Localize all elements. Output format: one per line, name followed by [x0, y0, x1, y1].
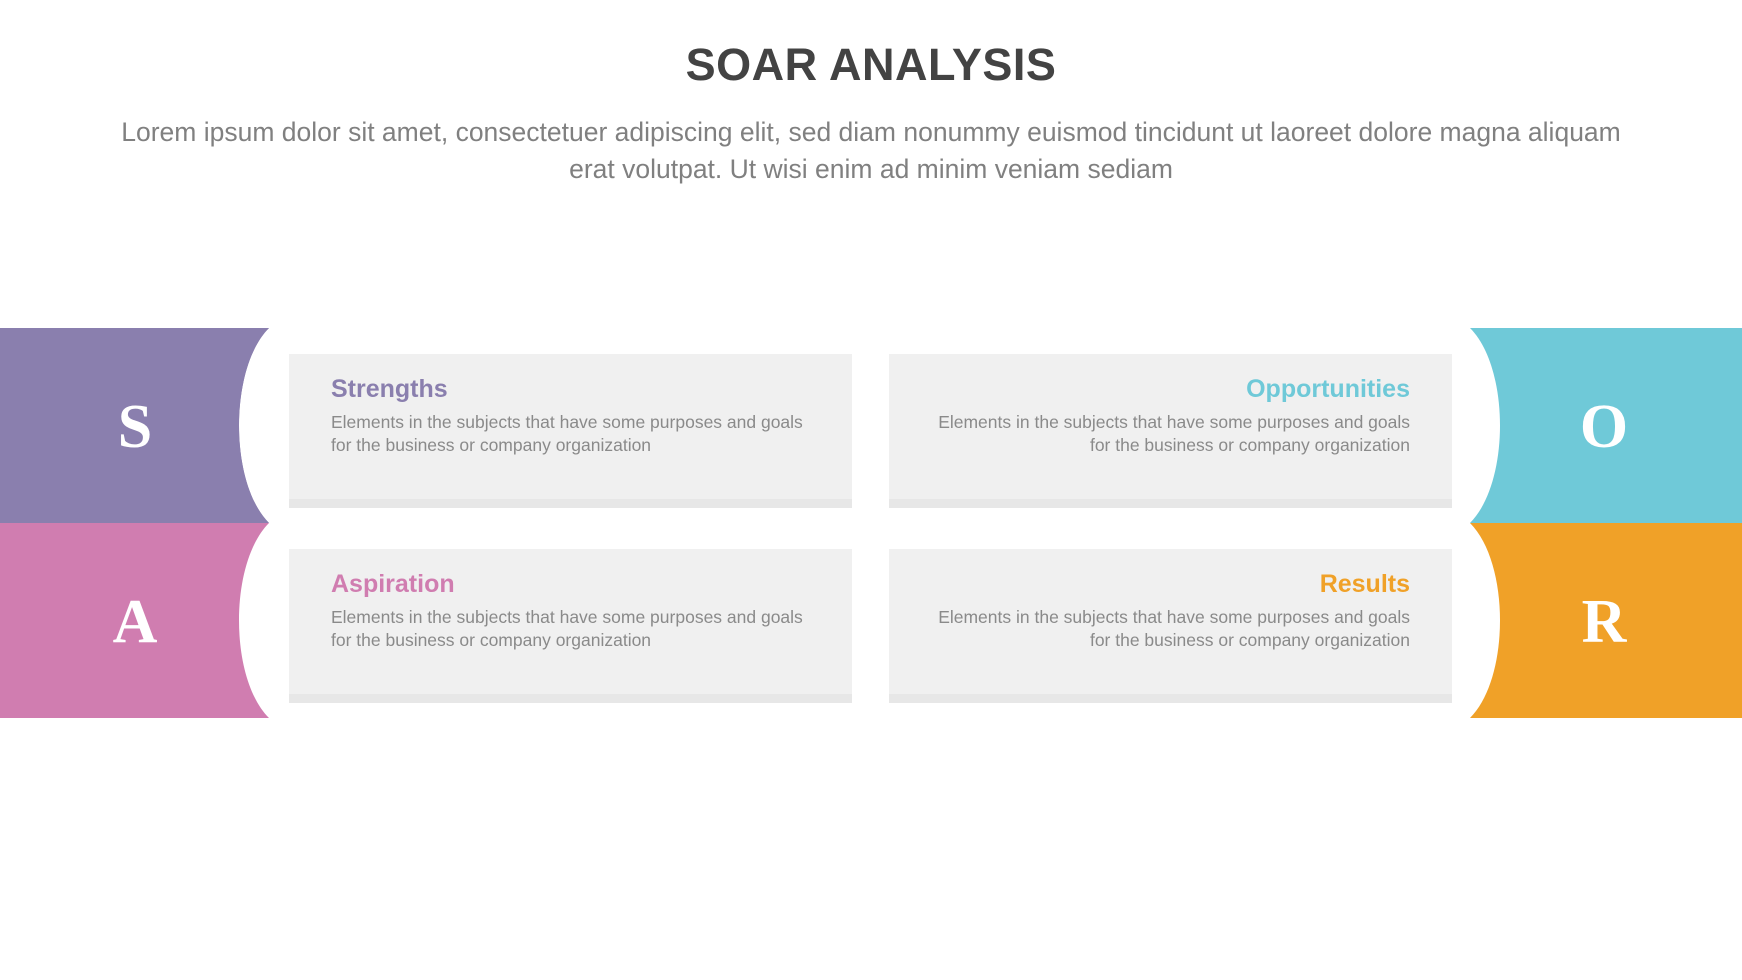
panel-title-opportunities: Opportunities	[919, 376, 1410, 404]
diagram: S Strengths Elements in the subjects tha…	[0, 340, 1742, 760]
shield-letter-aspiration: A	[0, 523, 269, 718]
panel-results[interactable]: Results Elements in the subjects that ha…	[889, 549, 1452, 694]
shield-letter-opportunities: O	[1470, 328, 1742, 523]
panel-title-aspiration: Aspiration	[331, 571, 822, 599]
panel-strengths[interactable]: Strengths Elements in the subjects that …	[289, 354, 852, 499]
diagram-row-bottom: A Aspiration Elements in the subjects th…	[0, 535, 1742, 725]
shield-opportunities[interactable]: O	[1470, 328, 1742, 523]
panel-description-opportunities: Elements in the subjects that have some …	[919, 411, 1410, 458]
panel-opportunities[interactable]: Opportunities Elements in the subjects t…	[889, 354, 1452, 499]
header: SOAR ANALYSIS Lorem ipsum dolor sit amet…	[0, 40, 1742, 189]
panel-title-strengths: Strengths	[331, 376, 822, 404]
page-title: SOAR ANALYSIS	[0, 40, 1742, 90]
shield-letter-strengths: S	[0, 328, 269, 523]
diagram-row-top: S Strengths Elements in the subjects tha…	[0, 340, 1742, 530]
page-subtitle: Lorem ipsum dolor sit amet, consectetuer…	[121, 114, 1621, 189]
shield-letter-results: R	[1470, 523, 1742, 718]
soar-analysis-infographic: SOAR ANALYSIS Lorem ipsum dolor sit amet…	[0, 0, 1742, 980]
panel-title-results: Results	[919, 571, 1410, 599]
panel-description-aspiration: Elements in the subjects that have some …	[331, 606, 822, 653]
panel-description-strengths: Elements in the subjects that have some …	[331, 411, 822, 458]
shield-results[interactable]: R	[1470, 523, 1742, 718]
panel-description-results: Elements in the subjects that have some …	[919, 606, 1410, 653]
shield-strengths[interactable]: S	[0, 328, 269, 523]
shield-aspiration[interactable]: A	[0, 523, 269, 718]
panel-aspiration[interactable]: Aspiration Elements in the subjects that…	[289, 549, 852, 694]
